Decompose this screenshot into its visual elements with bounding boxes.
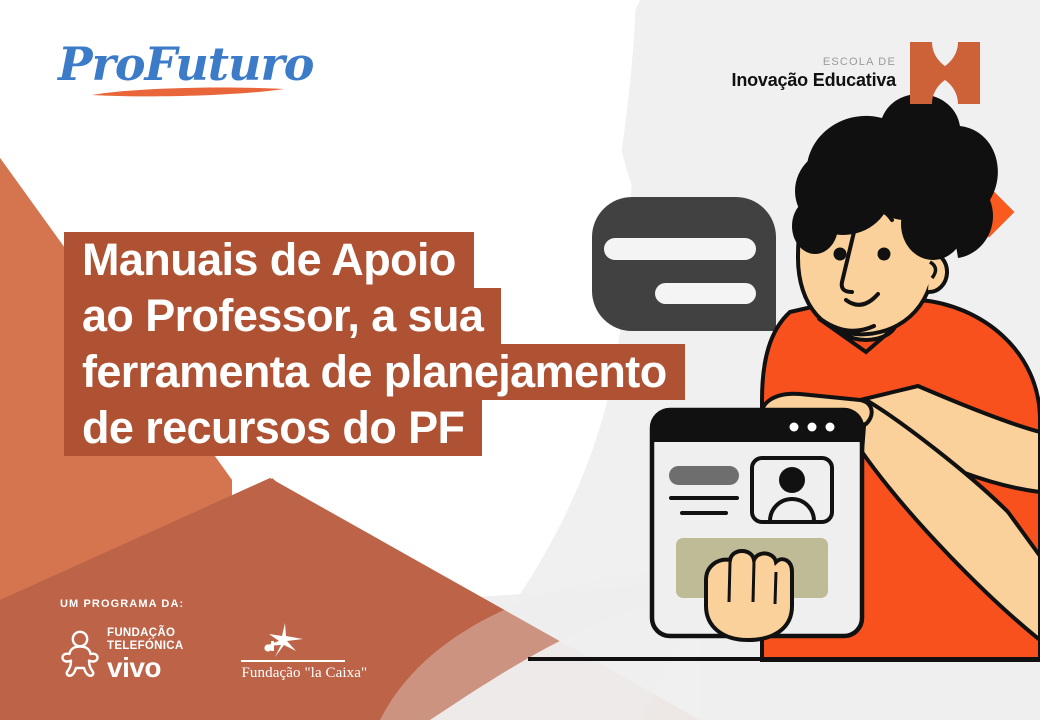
escola-superline: ESCOLA DE [732, 56, 896, 69]
profuturo-wordmark: ProFuturo [58, 38, 288, 90]
x-hourglass-mark-icon [906, 40, 984, 106]
profuturo-underline-swoosh [90, 86, 286, 98]
footer-logo-row: FUNDAÇÃO TELEFÓNICA vivo Fundação "la Ca… [60, 622, 349, 682]
fundacao-telefonica-vivo-logo[interactable]: FUNDAÇÃO TELEFÓNICA vivo [60, 627, 183, 682]
footer-kicker: UM PROGRAMA DA: [60, 598, 349, 610]
escola-logo-text: ESCOLA DE Inovação Educativa [732, 56, 896, 91]
title-line-1: Manuais de Apoio [64, 232, 474, 288]
title-line-4: de recursos do PF [64, 400, 482, 456]
star-asterisk-icon [255, 622, 305, 658]
title-line-3: ferramenta de planejamento [64, 344, 685, 400]
fundacao-la-caixa-logo[interactable]: Fundação "la Caixa" [241, 622, 349, 682]
gingerbread-figure-icon [60, 630, 100, 678]
telefonica-line1: FUNDAÇÃO [107, 627, 183, 640]
footer-sponsors: UM PROGRAMA DA: FUNDAÇÃO TELEFÓNICA vivo [60, 598, 349, 682]
telefonica-text: FUNDAÇÃO TELEFÓNICA vivo [107, 627, 183, 682]
caixa-rule [241, 660, 345, 662]
escola-inovacao-logo[interactable]: ESCOLA DE Inovação Educativa [732, 40, 984, 106]
caixa-wordmark: Fundação "la Caixa" [241, 665, 349, 682]
vivo-wordmark: vivo [107, 654, 183, 682]
slide-canvas: ProFuturo ESCOLA DE Inovação Educativa M… [0, 0, 1040, 720]
profuturo-logo[interactable]: ProFuturo [58, 38, 288, 100]
escola-name: Inovação Educativa [732, 69, 896, 91]
page-title: Manuais de Apoio ao Professor, a sua fer… [64, 232, 685, 456]
telefonica-line2: TELEFÓNICA [107, 640, 183, 653]
title-line-2: ao Professor, a sua [64, 288, 501, 344]
